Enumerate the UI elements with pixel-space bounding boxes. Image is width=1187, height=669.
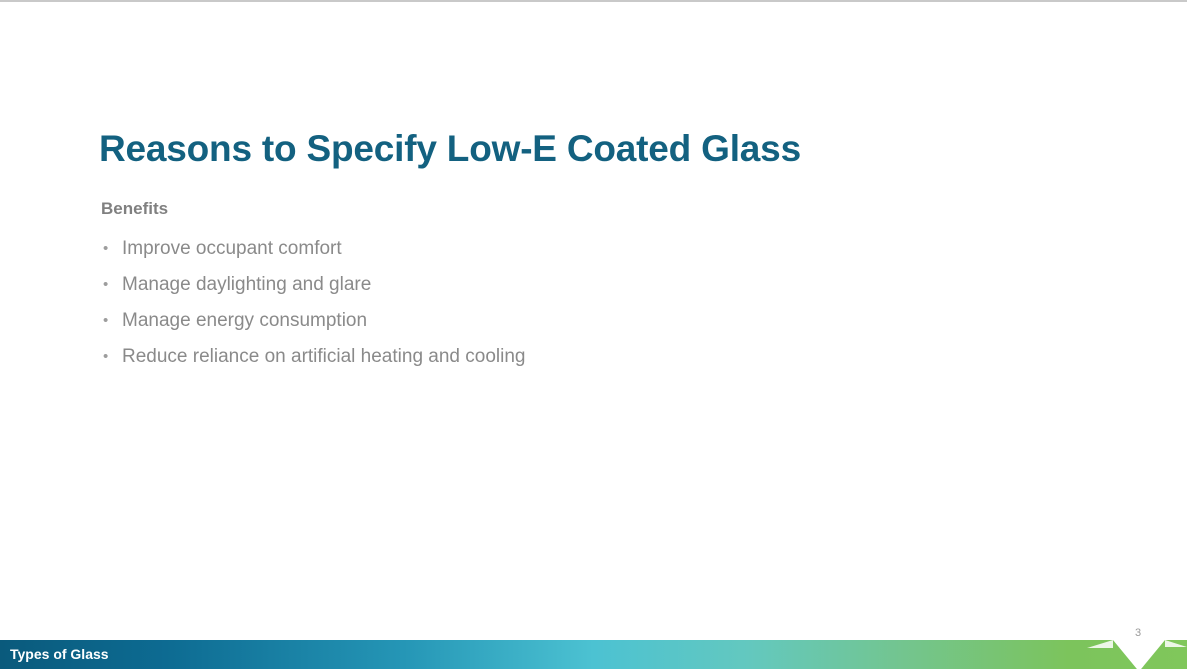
list-item: • Reduce reliance on artificial heating … xyxy=(101,339,861,375)
list-item-label: Reduce reliance on artificial heating an… xyxy=(122,346,525,367)
list-item-label: Manage energy consumption xyxy=(122,310,367,331)
footer-notch-decoration xyxy=(1113,640,1165,669)
benefits-heading: Benefits xyxy=(101,198,861,220)
list-item: • Manage energy consumption xyxy=(101,303,861,339)
list-item: • Manage daylighting and glare xyxy=(101,267,861,303)
footer-section-label: Types of Glass xyxy=(10,640,109,669)
page-number: 3 xyxy=(1131,627,1145,639)
page-title: Reasons to Specify Low-E Coated Glass xyxy=(99,128,801,170)
list-item: • Improve occupant comfort xyxy=(101,231,861,267)
bullet-icon: • xyxy=(103,231,108,267)
benefits-list: • Improve occupant comfort • Manage dayl… xyxy=(101,231,861,375)
footer-notch-shape xyxy=(1113,640,1165,669)
footer-bar: Types of Glass xyxy=(0,640,1187,669)
list-item-label: Manage daylighting and glare xyxy=(122,274,371,295)
bullet-icon: • xyxy=(103,267,108,303)
bullet-icon: • xyxy=(103,339,108,375)
list-item-label: Improve occupant comfort xyxy=(122,238,342,259)
content-body: Benefits • Improve occupant comfort • Ma… xyxy=(101,198,861,375)
bullet-icon: • xyxy=(103,303,108,339)
slide: Reasons to Specify Low-E Coated Glass Be… xyxy=(0,0,1187,669)
footer-gradient-band xyxy=(0,640,1187,669)
